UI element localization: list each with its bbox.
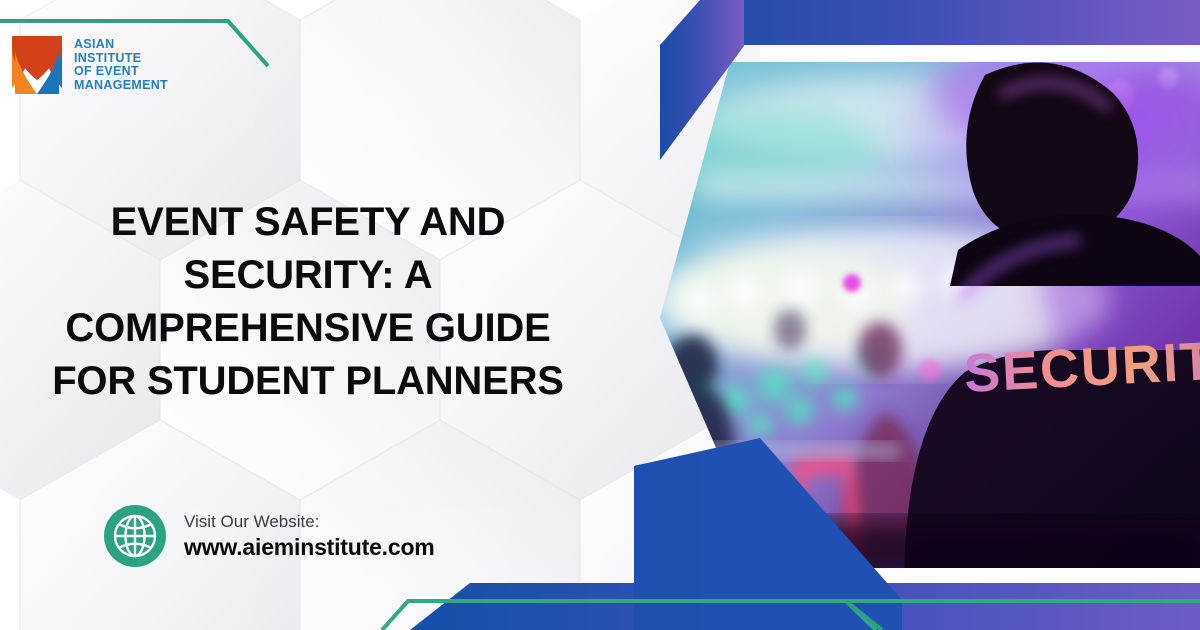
banner-canvas: SECURITY [0,0,1200,630]
website-callout[interactable]: Visit Our Website: www.aieminstitute.com [104,505,435,567]
globe-icon [104,505,166,567]
logo-wordmark: ASIAN INSTITUTE OF EVENT MANAGEMENT [74,38,168,92]
page-title: Event Safety and Security: A Comprehensi… [28,196,588,408]
aiem-logo-mark [12,36,62,94]
website-url[interactable]: www.aieminstitute.com [184,533,435,561]
brand-logo[interactable]: ASIAN INSTITUTE OF EVENT MANAGEMENT [12,36,168,94]
visit-label: Visit Our Website: [184,511,435,533]
website-text-lines: Visit Our Website: www.aieminstitute.com [184,511,435,561]
